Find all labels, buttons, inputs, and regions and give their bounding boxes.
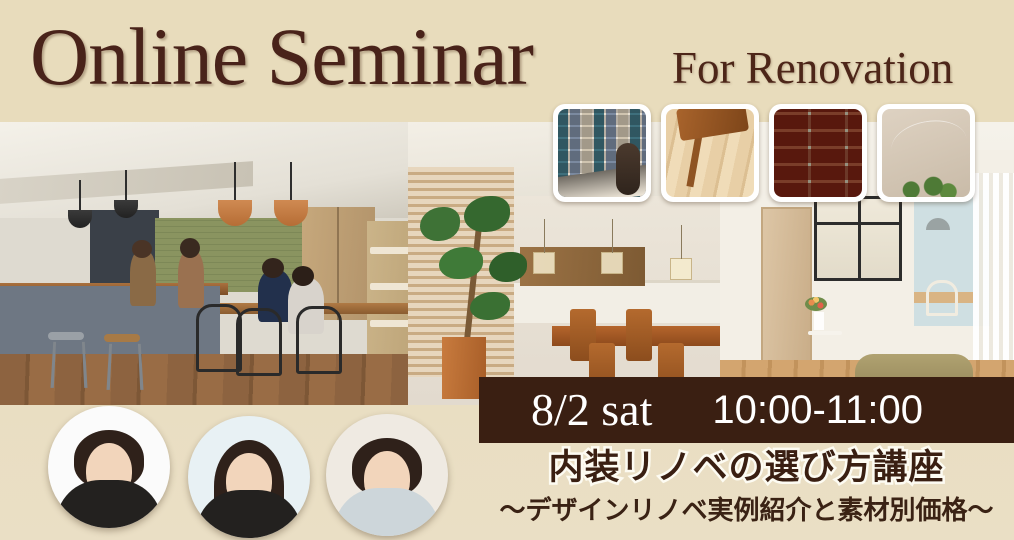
avatar-presenter-3 [326, 414, 448, 536]
thumbnail-row [553, 104, 975, 202]
avatar-presenter-2 [188, 416, 310, 538]
seminar-subtitle: 〜デザインリノベ実例紹介と素材別価格〜 [479, 496, 1014, 526]
thumbnail-mosaic-tile-faucet[interactable] [553, 104, 651, 202]
thumbnail-plain-wall-plant[interactable] [877, 104, 975, 202]
thumbnail-wooden-chair-flooring[interactable] [661, 104, 759, 202]
seminar-poster: Online Seminar For Renovation [0, 0, 1014, 540]
thumbnail-brick-wall[interactable] [769, 104, 867, 202]
event-date: 8/2 sat [531, 387, 652, 433]
page-subtitle: For Renovation [672, 46, 953, 91]
avatar-presenter-1 [48, 406, 170, 528]
photo-kitchen-dining-with-people [0, 122, 408, 405]
event-date-banner: 8/2 sat 10:00-11:00 [479, 377, 1014, 443]
event-time: 10:00-11:00 [712, 390, 923, 430]
page-title: Online Seminar [30, 16, 533, 98]
seminar-title: 内装リノベの選び方講座 [479, 448, 1014, 488]
